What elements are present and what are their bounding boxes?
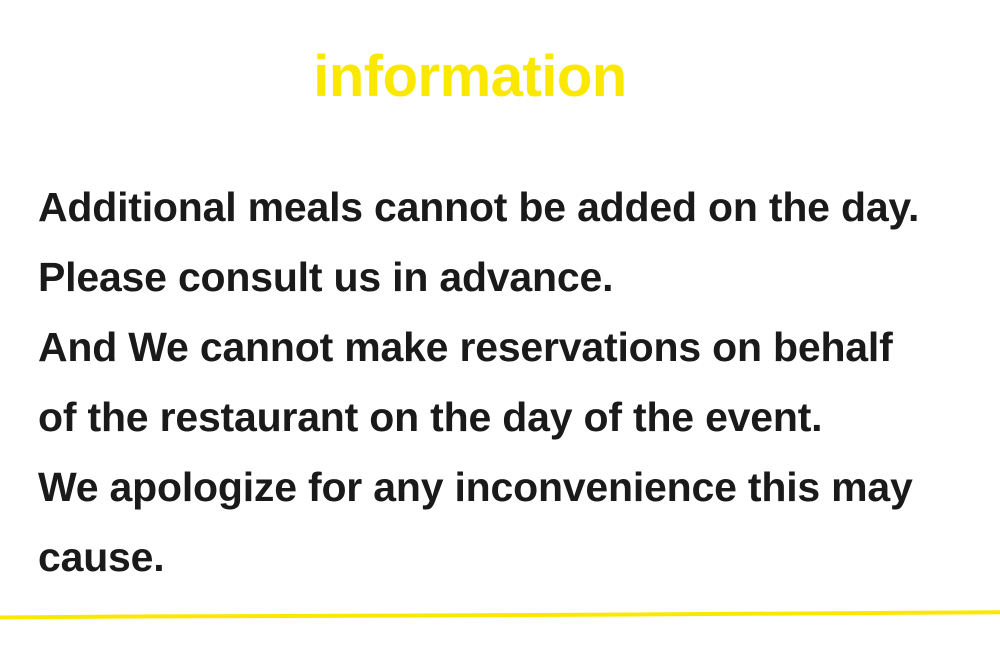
notice-line: We apologize for any inconvenience this … <box>38 452 978 522</box>
notice-line: And We cannot make reservations on behal… <box>38 312 978 382</box>
information-notice-slide: information Additional meals cannot be a… <box>0 0 1000 671</box>
notice-line: Please consult us in advance. <box>38 242 978 312</box>
divider <box>0 596 1000 630</box>
notice-line: of the restaurant on the day of the even… <box>38 382 978 452</box>
yellow-underline-icon <box>0 596 1000 630</box>
page-title: information <box>0 48 940 106</box>
notice-text-block: Additional meals cannot be added on the … <box>38 172 978 592</box>
notice-line: Additional meals cannot be added on the … <box>38 172 978 242</box>
notice-line: cause. <box>38 522 978 592</box>
